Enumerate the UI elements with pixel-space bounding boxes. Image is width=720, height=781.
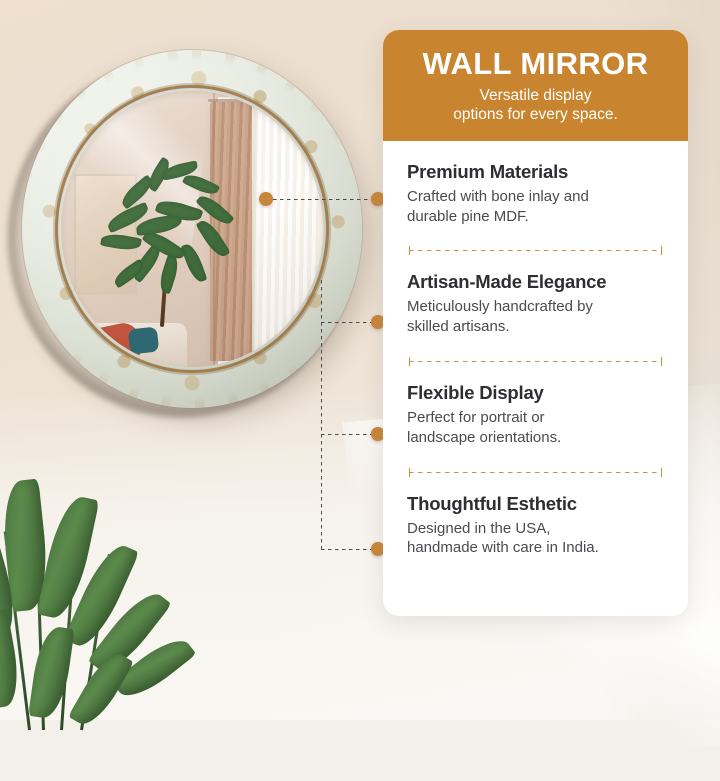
feature-divider <box>409 472 662 473</box>
feature-description: Crafted with bone inlay and durable pine… <box>407 187 664 227</box>
foreground-bird-of-paradise-plant <box>0 430 214 730</box>
feature-description-line-1: Designed in the USA, <box>407 520 550 537</box>
feature-title: Premium Materials <box>407 161 664 183</box>
feature-description-line-2: landscape orientations. <box>407 429 561 446</box>
card-feature-list: Premium Materials Crafted with bone inla… <box>383 141 688 616</box>
feature-item-flexible-display: Flexible Display Perfect for portrait or… <box>407 382 664 450</box>
card-subtitle-line-1: Versatile display <box>401 86 670 106</box>
feature-item-premium-materials: Premium Materials Crafted with bone inla… <box>407 161 664 229</box>
feature-description-line-2: skilled artisans. <box>407 318 510 335</box>
feature-description: Designed in the USA, handmade with care … <box>407 519 664 559</box>
feature-description-line-2: handmade with care in India. <box>407 539 599 556</box>
card-header: WALL MIRROR Versatile display options fo… <box>383 30 688 141</box>
feature-description-line-1: Crafted with bone inlay and <box>407 188 589 205</box>
card-subtitle-line-2: options for every space. <box>401 105 670 125</box>
feature-divider <box>409 361 662 362</box>
wall-mirror-product <box>6 48 366 424</box>
page-title: WALL MIRROR <box>401 48 670 81</box>
mirror-frame <box>22 50 362 408</box>
feature-description: Meticulously handcrafted by skilled arti… <box>407 297 664 337</box>
feature-title: Thoughtful Esthetic <box>407 493 664 515</box>
feature-description-line-1: Perfect for portrait or <box>407 409 545 426</box>
feature-item-artisan-made-elegance: Artisan-Made Elegance Meticulously handc… <box>407 271 664 339</box>
feature-description-line-1: Meticulously handcrafted by <box>407 298 593 315</box>
feature-description-line-2: durable pine MDF. <box>407 208 529 225</box>
feature-title: Artisan-Made Elegance <box>407 271 664 293</box>
feature-item-thoughtful-esthetic: Thoughtful Esthetic Designed in the USA,… <box>407 493 664 561</box>
feature-description: Perfect for portrait or landscape orient… <box>407 408 664 448</box>
feature-title: Flexible Display <box>407 382 664 404</box>
mirror-glass-bevel <box>58 88 326 370</box>
feature-divider <box>409 250 662 251</box>
product-info-card: WALL MIRROR Versatile display options fo… <box>383 30 688 616</box>
